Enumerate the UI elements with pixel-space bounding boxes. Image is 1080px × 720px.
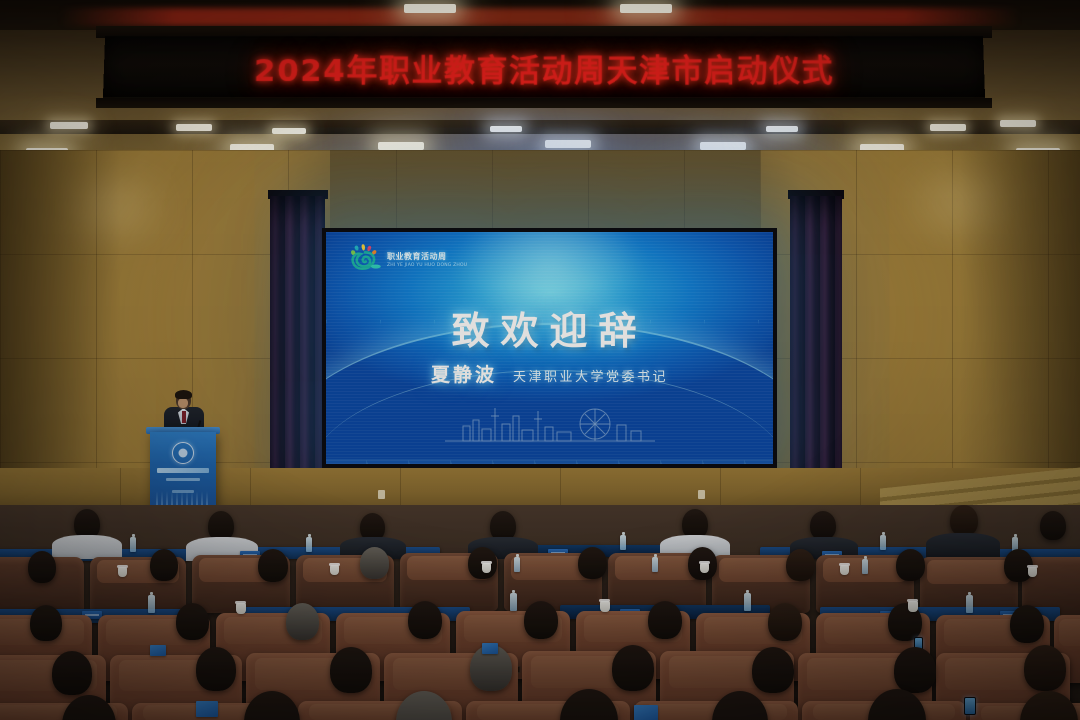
screen-speaker-title: 天津职业大学党委书记 — [513, 366, 668, 385]
water-bottle — [148, 595, 155, 613]
audience-head — [1024, 645, 1066, 691]
blue-booklet — [196, 701, 218, 717]
blue-booklet — [634, 705, 658, 720]
stage-curtain-left — [270, 196, 325, 512]
audience-head — [258, 549, 288, 582]
recessed-panel-light — [378, 142, 424, 150]
speaker-hair — [175, 390, 192, 399]
blue-booklet — [150, 645, 166, 656]
audience-head — [176, 603, 209, 640]
podium-panel-line-1 — [157, 468, 209, 473]
audience-head — [524, 601, 558, 639]
audience-head — [1040, 511, 1066, 540]
paper-cup — [908, 601, 918, 612]
water-bottle — [744, 593, 751, 611]
audience-area — [0, 505, 1080, 720]
audience-head — [894, 647, 936, 693]
paper-cup — [118, 567, 127, 577]
upper-led-red-glow — [60, 8, 1020, 26]
audience-shoulders — [52, 535, 122, 559]
screen-speaker-line: 夏静波 天津职业大学党委书记 — [326, 360, 773, 387]
audience-head — [330, 647, 372, 693]
speaker-tie — [182, 411, 186, 423]
wall-outlet — [378, 490, 385, 499]
screen-title: 致欢迎辞 — [326, 300, 773, 355]
paper-cup — [1028, 567, 1037, 577]
paper-cup — [236, 603, 246, 614]
audience-head — [786, 549, 815, 581]
stage-led-screen: 职业教育活动周 ZHI YE JIAO YU HUO DONG ZHOU 致欢迎… — [322, 228, 777, 468]
vocational-education-week-logo-icon — [348, 244, 382, 274]
recessed-panel-light — [620, 4, 672, 13]
banner-title-text: 2024年职业教育活动周天津市启动仪式 — [103, 36, 985, 98]
wall-outlet — [698, 490, 705, 499]
auditorium-photo: 2024年职业教育活动周天津市启动仪式 — [0, 0, 1080, 720]
screen-speaker-name: 夏静波 — [431, 360, 497, 387]
paper-cup — [330, 565, 339, 575]
recessed-panel-light — [176, 124, 212, 131]
paper-cup — [700, 563, 709, 573]
tianjin-skyline-silhouette — [445, 396, 655, 442]
water-bottle — [514, 557, 520, 572]
recessed-panel-light — [766, 126, 798, 132]
water-bottle — [306, 537, 312, 552]
water-bottle — [130, 537, 136, 552]
audience-head — [28, 551, 56, 583]
logo-subtitle: ZHI YE JIAO YU HUO DONG ZHOU — [387, 263, 467, 268]
water-bottle — [880, 535, 886, 550]
recessed-panel-light — [700, 142, 746, 150]
audience-head — [768, 603, 802, 641]
recessed-panel-light — [545, 140, 591, 148]
audience-head — [408, 601, 442, 639]
audience-head — [196, 647, 236, 691]
recessed-panel-light — [272, 128, 306, 134]
recessed-panel-light — [930, 124, 966, 131]
podium — [150, 432, 216, 510]
speaker-face — [178, 398, 188, 408]
logo-title-cn: 职业教育活动周 — [387, 251, 467, 262]
paper-cup — [840, 565, 849, 575]
audience-head — [150, 549, 178, 581]
university-emblem-icon — [172, 442, 194, 464]
recessed-panel-light — [1000, 120, 1036, 127]
ceiling-soffit-band — [0, 120, 1080, 134]
water-bottle — [652, 557, 658, 572]
paper-cup — [482, 563, 491, 573]
blue-booklet — [482, 643, 498, 654]
banner-frame-bottom — [96, 98, 992, 108]
audience-head — [360, 547, 389, 579]
audience-head — [52, 651, 92, 695]
podium-panel-line-2 — [166, 478, 200, 481]
audience-head — [950, 505, 978, 536]
recessed-panel-light — [490, 126, 522, 132]
water-bottle — [862, 559, 868, 574]
water-bottle — [620, 535, 626, 550]
paper-cup — [600, 601, 610, 612]
audience-head — [578, 547, 607, 579]
recessed-panel-light — [50, 122, 88, 129]
audience-head — [752, 647, 794, 693]
audience-head — [648, 601, 682, 639]
recessed-panel-light — [404, 4, 456, 13]
water-bottle — [966, 595, 973, 613]
audience-shoulders — [926, 533, 1000, 559]
audience-head — [810, 511, 836, 540]
led-banner: 2024年职业教育活动周天津市启动仪式 — [103, 36, 985, 98]
screen-content: 职业教育活动周 ZHI YE JIAO YU HUO DONG ZHOU 致欢迎… — [326, 232, 773, 464]
screen-logo: 职业教育活动周 ZHI YE JIAO YU HUO DONG ZHOU — [348, 244, 467, 274]
smartphone — [964, 697, 976, 715]
audience-head — [612, 645, 654, 691]
audience-head — [286, 603, 319, 640]
screen-logo-text: 职业教育活动周 ZHI YE JIAO YU HUO DONG ZHOU — [387, 251, 467, 268]
audience-head — [1010, 605, 1044, 643]
stage-curtain-right — [790, 196, 842, 512]
audience-head — [896, 549, 925, 581]
audience-head — [30, 605, 62, 641]
water-bottle — [510, 593, 517, 611]
